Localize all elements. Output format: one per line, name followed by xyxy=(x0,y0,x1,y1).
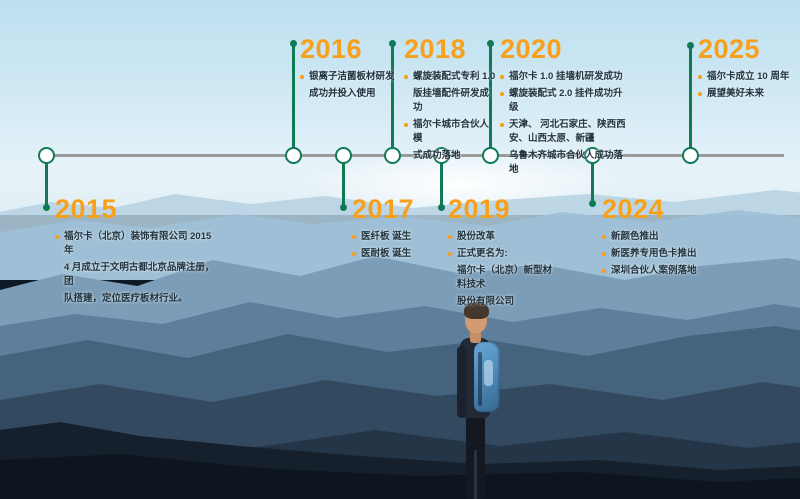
milestone-year-label: 2025 xyxy=(698,36,798,63)
milestone-bullet: 队搭建，定位医疗板材行业。 xyxy=(55,292,215,306)
milestone-bullet: 股份有限公司 xyxy=(448,295,552,309)
hiker-figure xyxy=(440,300,510,499)
stem-endpoint-2015 xyxy=(43,204,50,211)
milestone-bullet: 深圳合伙人案例落地 xyxy=(602,264,720,278)
milestone-year-label: 2017 xyxy=(352,196,444,223)
milestone-bullet-list: 福尔卡（北京）装饰有限公司 2015 年4 月成立于文明古都北京品牌注册，团队搭… xyxy=(55,230,215,306)
milestone-bullet: 福尔卡（北京）新型材料技术 xyxy=(448,264,552,292)
milestone-bullet-list: 股份改革正式更名为:福尔卡（北京）新型材料技术股份有限公司 xyxy=(448,230,552,309)
stem-endpoint-2024 xyxy=(589,200,596,207)
foreground-slope xyxy=(0,420,800,499)
milestone-2020[interactable]: 2020福尔卡 1.0 挂墙机研发成功螺旋装配式 2.0 挂件成功升级天津、 河… xyxy=(500,36,630,180)
stem-endpoint-2016 xyxy=(290,40,297,47)
milestone-year-label: 2024 xyxy=(602,196,720,223)
milestone-bullet: 福尔卡成立 10 周年 xyxy=(698,70,798,84)
timeline-stem-2016 xyxy=(292,43,295,148)
backpack-strap xyxy=(478,352,482,406)
milestone-bullet: 银离子洁菌板材研发 xyxy=(300,70,396,84)
milestone-bullet: 天津、 河北石家庄、陕西西安、山西太原、新疆 xyxy=(500,118,630,146)
milestone-bullet: 展望美好未来 xyxy=(698,87,798,101)
milestone-bullet-list: 医纤板 诞生医耐板 诞生 xyxy=(352,230,444,261)
milestone-bullet-list: 银离子洁菌板材研发成功并投入使用 xyxy=(300,70,396,101)
timeline-node-2016[interactable] xyxy=(285,147,302,164)
milestone-year-label: 2018 xyxy=(404,36,498,63)
milestone-year-label: 2015 xyxy=(55,196,215,223)
timeline-infographic: 2015福尔卡（北京）装饰有限公司 2015 年4 月成立于文明古都北京品牌注册… xyxy=(0,0,800,499)
milestone-bullet: 新颜色推出 xyxy=(602,230,720,244)
milestone-bullet-list: 福尔卡成立 10 周年展望美好未来 xyxy=(698,70,798,101)
hiker-leg-gap xyxy=(474,450,477,499)
timeline-node-2025[interactable] xyxy=(682,147,699,164)
milestone-bullet: 版挂墙配件研发成功 xyxy=(404,87,498,115)
milestone-2024[interactable]: 2024新颜色推出新医养专用色卡推出深圳合伙人案例落地 xyxy=(602,196,720,281)
milestone-2015[interactable]: 2015福尔卡（北京）装饰有限公司 2015 年4 月成立于文明古都北京品牌注册… xyxy=(55,196,215,309)
milestone-bullet: 成功并投入使用 xyxy=(300,87,396,101)
milestone-bullet-list: 螺旋装配式专利 1.0版挂墙配件研发成功福尔卡城市合伙人模式成功落地 xyxy=(404,70,498,163)
milestone-bullet-list: 福尔卡 1.0 挂墙机研发成功螺旋装配式 2.0 挂件成功升级天津、 河北石家庄… xyxy=(500,70,630,177)
timeline-stem-2017 xyxy=(342,160,345,208)
milestone-bullet: 医纤板 诞生 xyxy=(352,230,444,244)
timeline-stem-2015 xyxy=(45,160,48,208)
timeline-node-2015[interactable] xyxy=(38,147,55,164)
milestone-bullet: 乌鲁木齐城市合伙人成功落地 xyxy=(500,149,630,177)
milestone-2016[interactable]: 2016银离子洁菌板材研发成功并投入使用 xyxy=(300,36,396,104)
milestone-bullet: 福尔卡城市合伙人模 xyxy=(404,118,498,146)
milestone-bullet: 福尔卡（北京）装饰有限公司 2015 年 xyxy=(55,230,215,258)
milestone-bullet: 新医养专用色卡推出 xyxy=(602,247,720,261)
milestone-bullet: 医耐板 诞生 xyxy=(352,247,444,261)
milestone-year-label: 2016 xyxy=(300,36,396,63)
milestone-bullet: 福尔卡 1.0 挂墙机研发成功 xyxy=(500,70,630,84)
timeline-stem-2025 xyxy=(689,45,692,148)
milestone-year-label: 2019 xyxy=(448,196,552,223)
milestone-bullet-list: 新颜色推出新医养专用色卡推出深圳合伙人案例落地 xyxy=(602,230,720,278)
milestone-bullet: 4 月成立于文明古都北京品牌注册，团 xyxy=(55,261,215,289)
milestone-2019[interactable]: 2019股份改革正式更名为:福尔卡（北京）新型材料技术股份有限公司 xyxy=(448,196,552,312)
milestone-bullet: 螺旋装配式专利 1.0 xyxy=(404,70,498,84)
backpack-highlight xyxy=(484,360,493,386)
milestone-bullet: 式成功落地 xyxy=(404,149,498,163)
milestone-bullet: 股份改革 xyxy=(448,230,552,244)
timeline-node-2018[interactable] xyxy=(384,147,401,164)
milestone-year-label: 2020 xyxy=(500,36,630,63)
milestone-2025[interactable]: 2025福尔卡成立 10 周年展望美好未来 xyxy=(698,36,798,104)
timeline-node-2017[interactable] xyxy=(335,147,352,164)
milestone-bullet: 正式更名为: xyxy=(448,247,552,261)
milestone-2018[interactable]: 2018螺旋装配式专利 1.0版挂墙配件研发成功福尔卡城市合伙人模式成功落地 xyxy=(404,36,498,166)
milestone-2017[interactable]: 2017医纤板 诞生医耐板 诞生 xyxy=(352,196,444,264)
milestone-bullet: 螺旋装配式 2.0 挂件成功升级 xyxy=(500,87,630,115)
hiker-arm xyxy=(457,346,466,418)
stem-endpoint-2017 xyxy=(340,204,347,211)
stem-endpoint-2025 xyxy=(687,42,694,49)
